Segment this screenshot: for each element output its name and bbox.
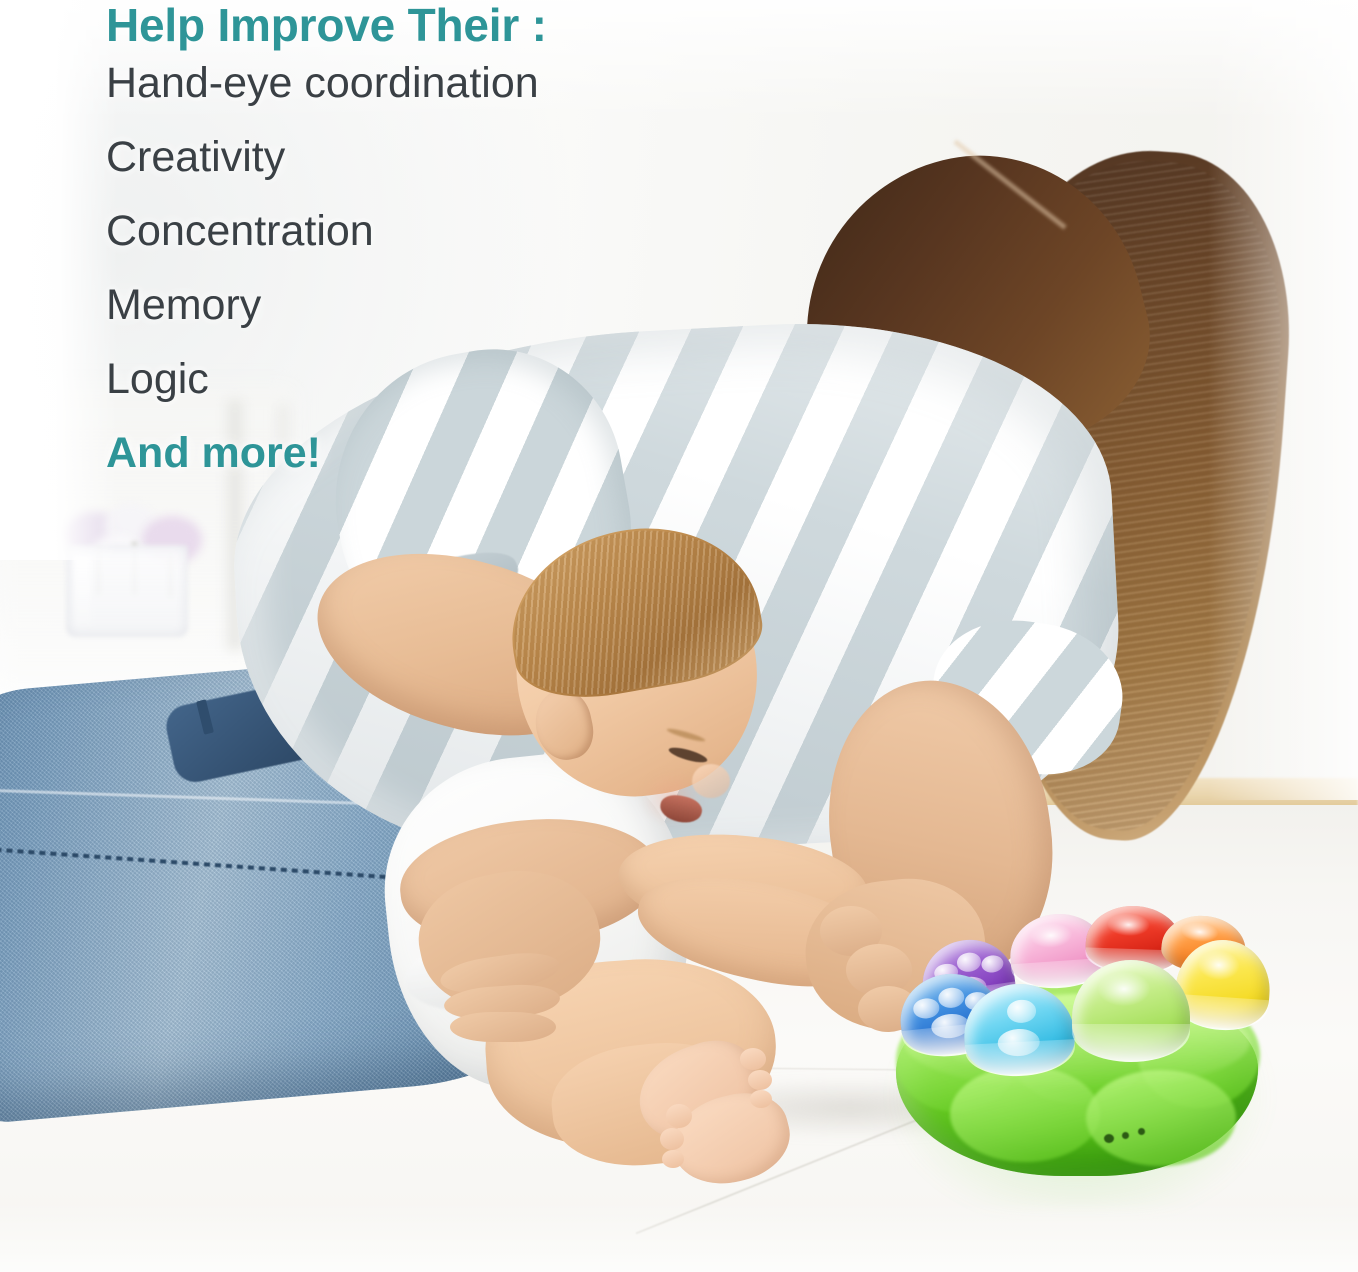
benefit-item-concentration: Concentration [106,210,824,253]
baby-toe [660,1128,684,1150]
baby-nose [692,764,730,798]
benefit-list: Hand-eye coordination Creativity Concent… [104,62,824,475]
paw-pad [912,998,940,1020]
toy-speaker-hole [1138,1128,1145,1135]
toy-speaker-hole [1122,1132,1129,1139]
mother-finger [450,1012,556,1042]
benefit-item-memory: Memory [106,284,824,327]
benefit-item-creativity: Creativity [106,136,824,179]
benefit-item-logic: Logic [106,358,824,401]
baby-toe [740,1048,766,1070]
photo-fade-bottom [0,1202,1358,1272]
baby-toe [666,1104,692,1128]
marketing-copy-block: Help Improve Their : Hand-eye coordinati… [104,2,824,475]
button-gloss [1197,949,1240,982]
baby-toe [750,1090,772,1108]
toy-cyan-button [962,981,1077,1077]
button-gloss [1098,972,1150,1006]
paw-pad [1007,999,1037,1023]
baby-toe [748,1070,772,1090]
photo-fade-right [1208,0,1358,800]
button-gloss [1107,913,1150,937]
benefit-item-hand-eye-coordination: Hand-eye coordination [106,62,824,105]
toy-speaker-hole [1104,1134,1114,1143]
baby-toe [662,1150,684,1168]
benefit-item-and-more: And more! [106,432,824,475]
headline: Help Improve Their : [106,2,824,48]
baby-light-up-toy [890,898,1276,1204]
product-lifestyle-image: Help Improve Their : Hand-eye coordinati… [0,0,1358,1272]
button-gloss [1029,922,1073,949]
photo-fade-left [0,0,118,560]
